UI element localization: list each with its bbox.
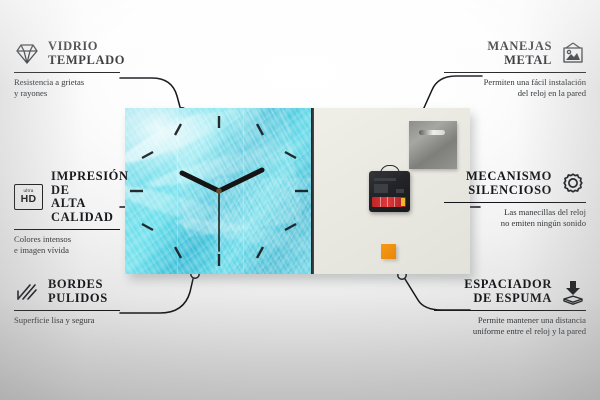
minute-hand <box>219 170 262 191</box>
hanger-plate <box>409 121 457 169</box>
ultra-hd-icon-big-text: HD <box>21 194 37 205</box>
mechanism-detail <box>374 184 388 193</box>
feature-espaciador-espuma: ESPACIADOR DE ESPUMA Permite mantener un… <box>434 278 586 337</box>
clock-mechanism <box>369 171 410 212</box>
feature-description: Superficie lisa y segura <box>14 315 120 326</box>
gear-icon <box>560 171 586 197</box>
hand-hub <box>216 188 222 194</box>
diamond-icon <box>14 41 40 67</box>
feature-rule <box>444 202 586 203</box>
feature-rule <box>14 72 120 73</box>
feature-bordes-pulidos: BORDES PULIDOS Superficie lisa y segura <box>14 278 120 326</box>
mechanism-detail <box>396 189 404 193</box>
clock-hands <box>125 108 313 274</box>
feature-rule <box>14 229 120 230</box>
hour-hand <box>182 173 219 191</box>
feature-title: ESPACIADOR DE ESPUMA <box>464 278 552 305</box>
battery <box>372 197 406 207</box>
clock-front-panel <box>125 108 313 274</box>
feature-title: MECANISMO SILENCIOSO <box>466 170 552 197</box>
mechanism-detail <box>374 178 396 181</box>
feature-title: VIDRIO TEMPLADO <box>48 40 125 67</box>
feature-rule <box>434 310 586 311</box>
feature-title: IMPRESIÓN DE ALTA CALIDAD <box>51 170 129 224</box>
feature-title: MANEJAS METAL <box>487 40 552 67</box>
feature-title: BORDES PULIDOS <box>48 278 108 305</box>
feature-rule <box>444 72 586 73</box>
ultra-hd-icon: ultra HD <box>14 184 43 210</box>
feature-rule <box>14 310 120 311</box>
panel-edge <box>311 108 314 274</box>
product-image <box>125 108 470 276</box>
mechanism-hook <box>380 165 400 176</box>
feature-manejas-metal: MANEJAS METAL Permiten una fácil instala… <box>444 40 586 99</box>
battery-terminal <box>401 198 405 206</box>
feature-description: Las manecillas del reloj no emiten ningú… <box>444 207 586 229</box>
feature-description: Permite mantener una distancia uniforme … <box>434 315 586 337</box>
polished-edges-icon <box>14 279 40 305</box>
feature-mecanismo-silencioso: MECANISMO SILENCIOSO Las manecillas del … <box>444 170 586 229</box>
foam-spacer-icon <box>560 279 586 305</box>
feature-description: Permiten una fácil instalación del reloj… <box>444 77 586 99</box>
feature-description: Colores intensos e imagen vívida <box>14 234 120 256</box>
wall-frame-icon <box>560 41 586 67</box>
feature-description: Resistencia a grietas y rayones <box>14 77 120 99</box>
foam-spacer <box>381 244 396 259</box>
feature-impresion-alta-calidad: ultra HD IMPRESIÓN DE ALTA CALIDAD Color… <box>14 170 120 256</box>
infographic-canvas: VIDRIO TEMPLADO Resistencia a grietas y … <box>0 0 600 400</box>
hanger-slot <box>419 130 445 135</box>
feature-vidrio-templado: VIDRIO TEMPLADO Resistencia a grietas y … <box>14 40 120 99</box>
